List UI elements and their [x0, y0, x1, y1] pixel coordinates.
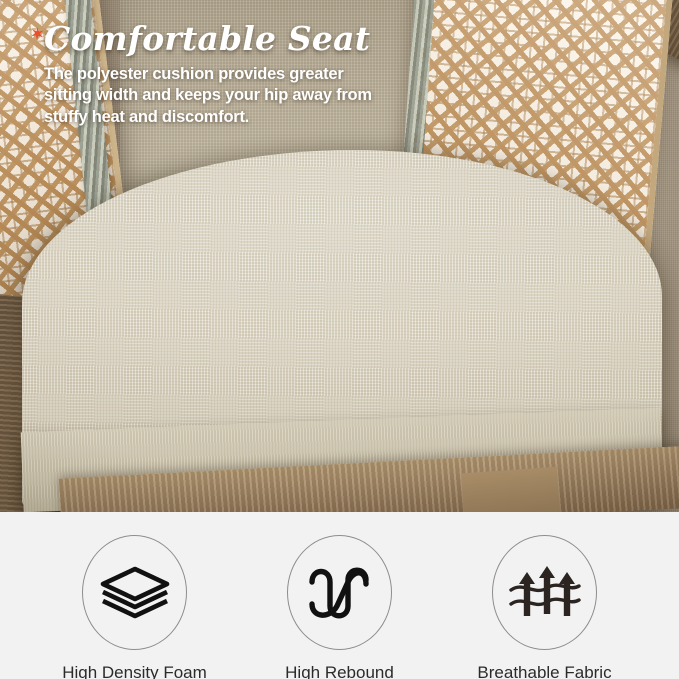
feature-item: Breathable Fabric — [442, 512, 647, 679]
marketing-image: Comfortable Seat The polyester cushion p… — [0, 0, 679, 679]
feature-label: High Rebound — [285, 663, 394, 679]
star-accent-icon — [30, 26, 45, 41]
feature-label: High Density Foam — [62, 663, 207, 679]
wood-front-leg — [461, 467, 561, 512]
hero-copy-block: Comfortable Seat The polyester cushion p… — [0, 0, 464, 128]
hero-description: The polyester cushion provides greater s… — [44, 64, 374, 128]
feature-badge — [287, 535, 392, 650]
spring-coil-icon — [304, 562, 376, 624]
airflow-arrows-icon — [507, 562, 583, 624]
feature-strip: High Density Foam High Rebound — [0, 512, 679, 679]
feature-item: High Density Foam — [32, 512, 237, 679]
page-title: Comfortable Seat — [44, 22, 464, 55]
stacked-layers-icon — [99, 563, 171, 623]
feature-item: High Rebound — [237, 512, 442, 679]
feature-label: Breathable Fabric — [477, 663, 611, 679]
product-photo: Comfortable Seat The polyester cushion p… — [0, 0, 679, 512]
feature-badge — [82, 535, 187, 650]
feature-badge — [492, 535, 597, 650]
